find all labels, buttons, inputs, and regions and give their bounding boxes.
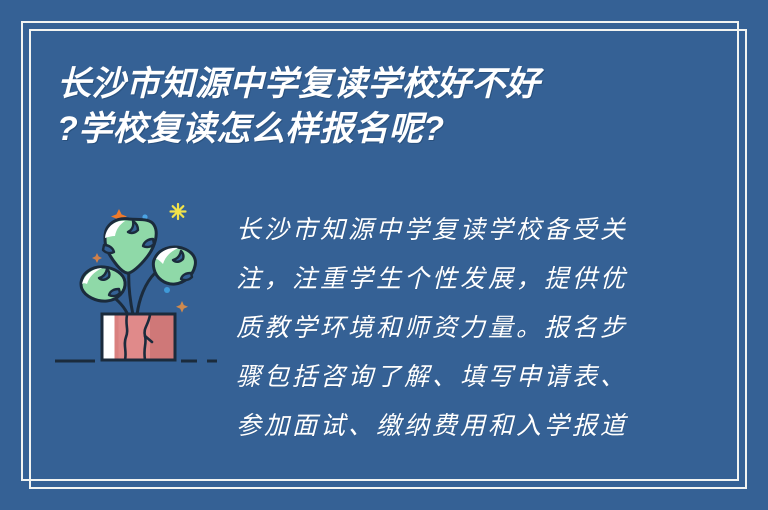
page-title: 长沙市知源中学复读学校好不好 ?学校复读怎么样报名呢? <box>57 62 697 152</box>
yellow-burst-icon <box>171 204 186 219</box>
tan-star-lower-icon <box>176 301 188 313</box>
title-line-2: ?学校复读怎么样报名呢? <box>57 107 697 152</box>
potted-plant-illustration <box>55 195 220 375</box>
body-paragraph: 长沙市知源中学复读学校备受关 注，注重学生个性发展，提供优 质教学环境和师资力量… <box>236 206 656 451</box>
blue-dot-lower-icon <box>164 287 170 293</box>
plant-leaf-left <box>81 267 125 301</box>
body-line-2: 注，注重学生个性发展，提供优 <box>236 255 656 304</box>
body-line-1: 长沙市知源中学复读学校备受关 <box>236 206 656 255</box>
body-line-3: 质教学环境和师资力量。报名步 <box>236 304 656 353</box>
poster-canvas: 长沙市知源中学复读学校好不好 ?学校复读怎么样报名呢? <box>0 0 768 510</box>
body-line-5: 参加面试、缴纳费用和入学报道 <box>236 402 656 451</box>
body-line-4: 骤包括咨询了解、填写申请表、 <box>236 353 656 402</box>
orange-dot-left-icon <box>92 253 102 263</box>
plant-leaf-top <box>103 219 156 273</box>
plant-pot <box>102 314 175 360</box>
title-line-1: 长沙市知源中学复读学校好不好 <box>57 62 697 107</box>
plant-leaf-right <box>153 247 195 284</box>
